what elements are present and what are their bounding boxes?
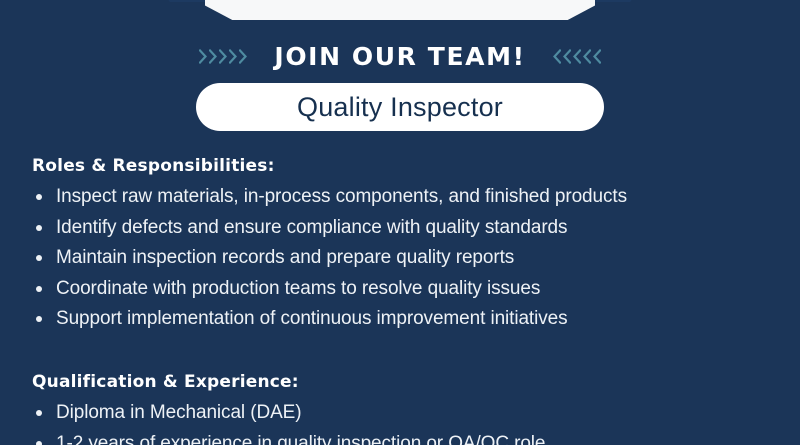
- qualification-list: Diploma in Mechanical (DAE) 1-2 years of…: [32, 398, 788, 445]
- list-item-label: Maintain inspection records and prepare …: [56, 247, 514, 268]
- chevron-left-icon: [592, 49, 601, 64]
- ribbon-body: HIRING: [205, 0, 595, 20]
- join-our-team-banner: JOIN OUR TEAM!: [0, 38, 800, 74]
- bullet-dot-icon: [36, 286, 42, 292]
- job-posting-poster: HIRING JOIN OUR TEAM! Quality Inspector …: [0, 0, 800, 445]
- job-title-pill: Quality Inspector: [196, 83, 604, 131]
- list-item: Identify defects and ensure compliance w…: [32, 213, 788, 244]
- list-item-label: 1-2 years of experience in quality inspe…: [56, 433, 545, 445]
- job-title-label: Quality Inspector: [297, 92, 503, 123]
- hiring-label: HIRING: [306, 0, 494, 4]
- chevron-left-icon: [582, 49, 591, 64]
- bullet-dot-icon: [36, 225, 42, 231]
- chevron-right-icon: [199, 49, 208, 64]
- hiring-ribbon: HIRING: [0, 0, 800, 24]
- qualification-section: Qualification & Experience: Diploma in M…: [32, 372, 788, 445]
- chevron-left-icon: [562, 49, 571, 64]
- list-item-label: Coordinate with production teams to reso…: [56, 278, 540, 299]
- bullet-dot-icon: [36, 255, 42, 261]
- bullet-dot-icon: [36, 316, 42, 322]
- list-item-label: Support implementation of continuous imp…: [56, 308, 568, 329]
- chevron-right-icon: [209, 49, 218, 64]
- bullet-dot-icon: [36, 410, 42, 416]
- list-item-label: Identify defects and ensure compliance w…: [56, 217, 567, 238]
- list-item: Inspect raw materials, in-process compon…: [32, 182, 788, 213]
- chevrons-right-icon: [199, 49, 248, 64]
- bullet-dot-icon: [36, 441, 42, 445]
- chevron-right-icon: [229, 49, 238, 64]
- chevron-right-icon: [239, 49, 248, 64]
- list-item: Coordinate with production teams to reso…: [32, 274, 788, 305]
- list-item: 1-2 years of experience in quality inspe…: [32, 429, 788, 445]
- roles-list: Inspect raw materials, in-process compon…: [32, 182, 788, 335]
- qualification-heading: Qualification & Experience:: [32, 372, 788, 392]
- chevrons-left-icon: [552, 49, 601, 64]
- chevron-right-icon: [219, 49, 228, 64]
- list-item-label: Inspect raw materials, in-process compon…: [56, 186, 627, 207]
- bullet-dot-icon: [36, 194, 42, 200]
- roles-section: Roles & Responsibilities: Inspect raw ma…: [32, 156, 788, 335]
- list-item: Maintain inspection records and prepare …: [32, 243, 788, 274]
- list-item-label: Diploma in Mechanical (DAE): [56, 402, 301, 423]
- join-our-team-label: JOIN OUR TEAM!: [274, 42, 525, 71]
- roles-heading: Roles & Responsibilities:: [32, 156, 788, 176]
- chevron-left-icon: [552, 49, 561, 64]
- chevron-left-icon: [572, 49, 581, 64]
- list-item: Support implementation of continuous imp…: [32, 304, 788, 335]
- list-item: Diploma in Mechanical (DAE): [32, 398, 788, 429]
